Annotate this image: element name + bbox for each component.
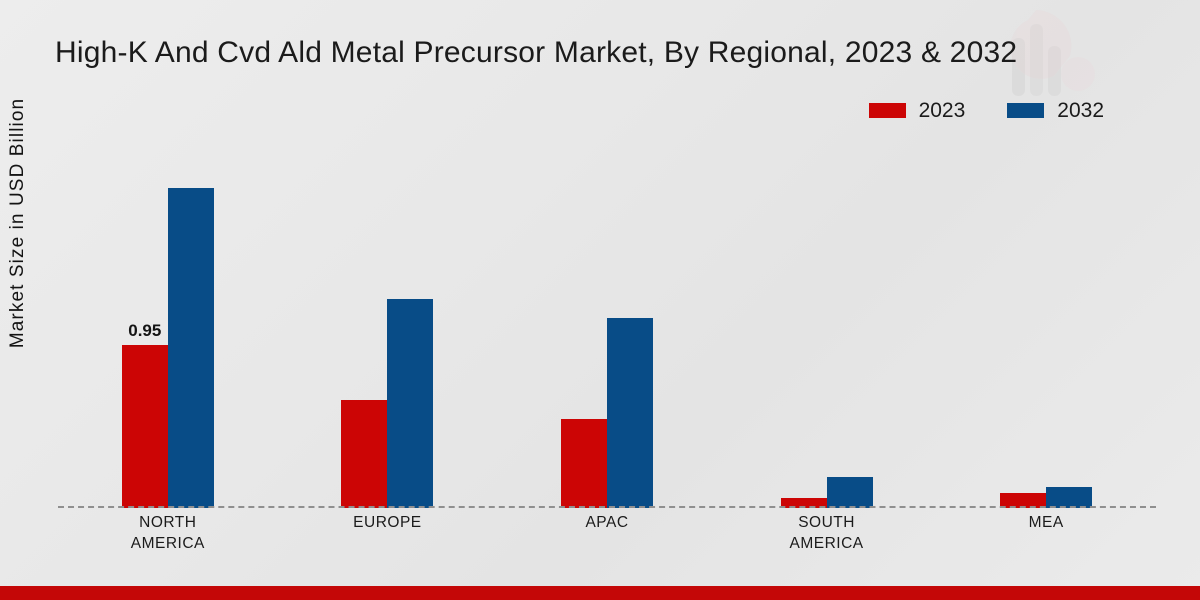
bar-2032[interactable] — [1046, 487, 1092, 508]
bar-2023[interactable] — [341, 400, 387, 508]
bar-2032[interactable] — [607, 318, 653, 508]
bar-value-label: 0.95 — [128, 321, 161, 341]
bar-2023[interactable]: 0.95 — [122, 345, 168, 508]
plot-area: 0.95 — [58, 140, 1156, 508]
legend-label-2023: 2023 — [919, 100, 966, 121]
bar-group — [341, 140, 433, 508]
legend-swatch-2032 — [1007, 103, 1044, 118]
bar-group — [561, 140, 653, 508]
bar-2032[interactable] — [827, 477, 873, 508]
x-tick-label: SOUTHAMERICA — [737, 512, 917, 554]
x-tick-label: EUROPE — [297, 512, 477, 533]
y-axis-title: Market Size in USD Billion — [7, 53, 29, 393]
bar-group — [1000, 140, 1092, 508]
x-tick-label: MEA — [956, 512, 1136, 533]
bar-2032[interactable] — [168, 188, 214, 508]
x-axis-baseline — [58, 506, 1156, 508]
x-tick-label: APAC — [517, 512, 697, 533]
bar-groups: 0.95 — [58, 140, 1156, 508]
bar-2032[interactable] — [387, 299, 433, 508]
x-tick-label: NORTHAMERICA — [78, 512, 258, 554]
legend-item-2032[interactable]: 2032 — [1007, 100, 1104, 121]
legend-swatch-2023 — [869, 103, 906, 118]
chart-figure: High-K And Cvd Ald Metal Precursor Marke… — [0, 0, 1200, 600]
bar-group — [781, 140, 873, 508]
page-title: High-K And Cvd Ald Metal Precursor Marke… — [55, 36, 1017, 70]
chart-legend: 2023 2032 — [869, 100, 1104, 121]
bar-2023[interactable] — [561, 419, 607, 508]
x-axis-tick-labels: NORTHAMERICAEUROPEAPACSOUTHAMERICAMEA — [58, 512, 1156, 572]
footer-accent-bar — [0, 586, 1200, 600]
legend-label-2032: 2032 — [1057, 100, 1104, 121]
bar-group: 0.95 — [122, 140, 214, 508]
legend-item-2023[interactable]: 2023 — [869, 100, 966, 121]
